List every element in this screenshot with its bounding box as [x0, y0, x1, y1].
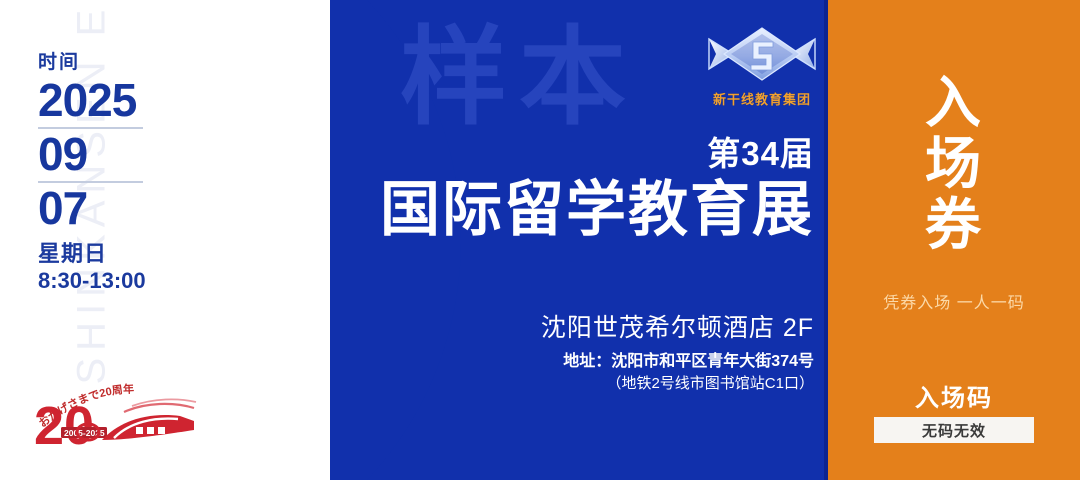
date-block: 时间 2025 09 07 星期日 8:30-13:00 — [38, 52, 146, 296]
stub-code-value: 无码无效 — [874, 417, 1034, 443]
date-weekday: 星期日 — [38, 240, 146, 268]
panel-divider — [824, 0, 828, 480]
venue-metro: （地铁2号线市图书馆站C1口） — [541, 373, 814, 394]
stub-title-char-2: 场 — [828, 133, 1080, 194]
ticket-stub: 入 场 券 凭券入场 一人一码 入场码 无码无效 — [828, 0, 1080, 480]
date-day: 07 — [38, 185, 146, 232]
group-logo-name: 新干线教育集团 — [703, 89, 821, 108]
date-year: 2025 — [38, 77, 146, 124]
stub-note: 凭券入场 一人一码 — [828, 289, 1080, 313]
date-label: 时间 — [38, 52, 146, 75]
venue-address: 地址：沈阳市和平区青年大街374号 — [541, 350, 814, 373]
date-time-range: 8:30-13:00 — [38, 267, 146, 296]
stub-title-char-1: 入 — [828, 72, 1080, 133]
group-logo: 新干线教育集团 — [703, 25, 821, 103]
stub-code-label: 入场码 — [828, 378, 1080, 413]
stub-title: 入 场 券 — [828, 72, 1080, 255]
page-title: 国际留学教育展 — [380, 176, 814, 243]
admission-ticket: 样本 — [0, 0, 1080, 480]
anniversary-logo: おかげさまで20周年 20 2005-2025 — [28, 372, 200, 452]
diamond-emblem-icon — [703, 25, 821, 83]
stub-title-char-3: 券 — [828, 194, 1080, 255]
headline-block: 第34届 国际留学教育展 — [380, 136, 814, 243]
edition-label: 第34届 — [380, 136, 814, 172]
venue-name: 沈阳世茂希尔顿酒店 2F — [541, 312, 814, 345]
venue-block: 沈阳世茂希尔顿酒店 2F 地址：沈阳市和平区青年大街374号 （地铁2号线市图书… — [541, 312, 814, 394]
date-month: 09 — [38, 131, 146, 178]
